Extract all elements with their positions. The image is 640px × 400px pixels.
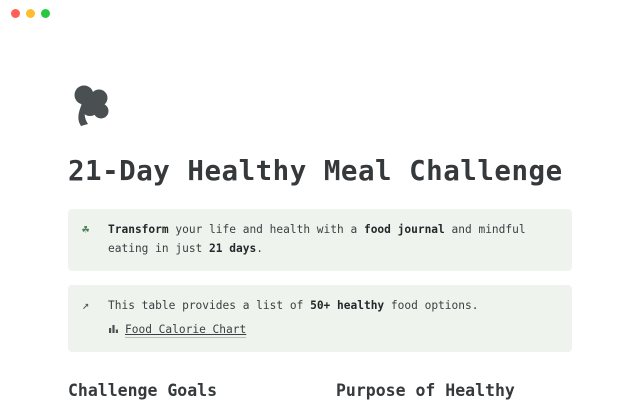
callout-transform-text: Transform your life and health with a fo…	[108, 220, 558, 259]
callout-bold-days: 21 days	[209, 242, 256, 255]
section-heading-purpose: Purpose of Healthy Eating	[336, 380, 572, 400]
document-content: 21-Day Healthy Meal Challenge ☘ Transfor…	[0, 83, 640, 400]
window-titlebar	[0, 0, 640, 26]
window-maximize-button[interactable]	[41, 9, 50, 18]
bar-chart-icon	[108, 321, 119, 340]
document-canvas[interactable]: 21-Day Healthy Meal Challenge ☘ Transfor…	[0, 26, 640, 400]
callout-table-text: This table provides a list of 50+ health…	[108, 296, 558, 341]
app-window: 21-Day Healthy Meal Challenge ☘ Transfor…	[0, 0, 640, 400]
sections-row: Challenge Goals 🍃 Prepare inexpensive, h…	[68, 380, 572, 400]
callout2-bold-healthy: 50+ healthy	[310, 299, 384, 312]
callout-bold-transform: Transform	[108, 223, 169, 236]
section-heading-challenge-goals: Challenge Goals	[68, 380, 304, 400]
food-calorie-chart-label: Food Calorie Chart	[125, 323, 246, 338]
broccoli-icon	[68, 83, 116, 131]
callout-transform: ☘ Transform your life and health with a …	[68, 209, 572, 271]
food-calorie-chart-link[interactable]: Food Calorie Chart	[108, 320, 558, 340]
callout2-text-1: This table provides a list of	[108, 299, 310, 312]
arrow-up-right-icon: ↗	[82, 296, 99, 315]
page-title: 21-Day Healthy Meal Challenge	[68, 155, 572, 187]
callout-table-info: ↗ This table provides a list of 50+ heal…	[68, 285, 572, 353]
section-purpose: Purpose of Healthy Eating	[336, 380, 572, 400]
window-close-button[interactable]	[11, 9, 20, 18]
callout-bold-journal: food journal	[364, 223, 445, 236]
section-challenge-goals: Challenge Goals 🍃 Prepare inexpensive, h…	[68, 380, 304, 400]
window-minimize-button[interactable]	[26, 9, 35, 18]
callout2-text-2: food options.	[384, 299, 478, 312]
callout-text-1: your life and health with a	[169, 223, 364, 236]
callout-text-3: .	[256, 242, 263, 255]
tree-icon: ☘	[82, 220, 99, 239]
